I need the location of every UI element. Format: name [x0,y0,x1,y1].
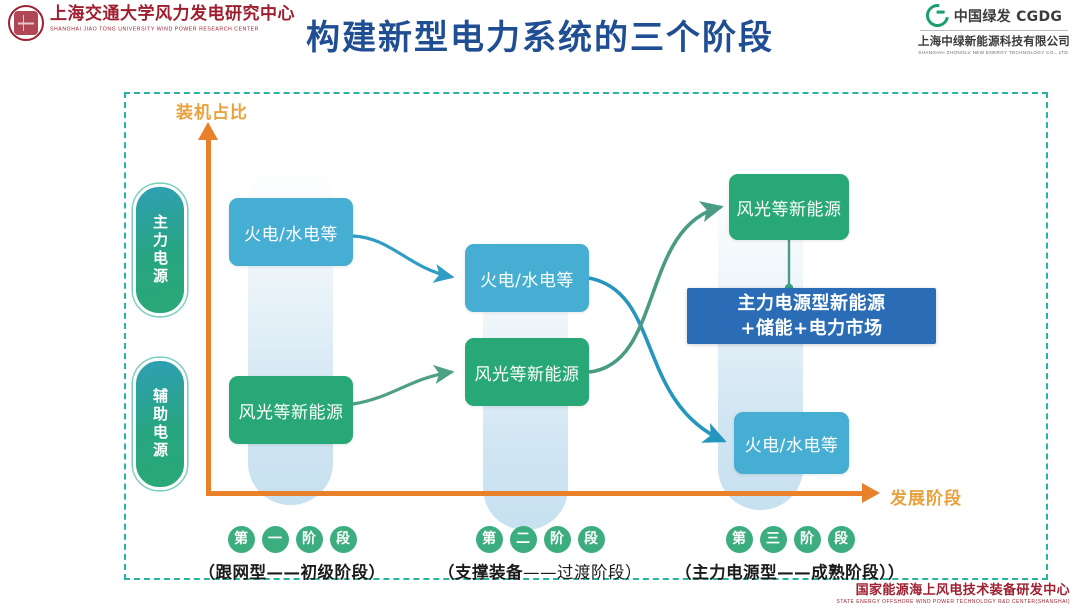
logo-right-brand: 中国绿发 CGDG [954,6,1062,26]
node-stage3-renewables[interactable]: 风光等新能源 [729,174,849,240]
stage-2-chip-1: 二 [510,526,537,553]
logo-right-cn: 上海中绿新能源科技有限公司 [918,33,1070,49]
cgdg-g-mark-icon [921,0,953,32]
stage-1-caption: 第 一 阶 段 （跟网型——初级阶段） [182,526,402,583]
node-stage2-thermal-hydro[interactable]: 火电/水电等 [465,244,589,312]
stage-1-chip-2: 阶 [296,526,323,553]
page-header: 上海交通大学风力发电研究中心 SHANGHAI JIAO TONG UNIVER… [0,0,1080,76]
core-line-1: 主力电源型新能源 [738,291,886,316]
stage-2-chip-3: 段 [578,526,605,553]
stage-3-chips: 第 三 阶 段 [655,526,925,553]
stage-1-chip-1: 一 [262,526,289,553]
x-axis-arrow-icon [862,483,880,503]
logo-cgdg: 中国绿发 CGDG 上海中绿新能源科技有限公司 SHANGHAI ZHONGLV… [918,4,1070,55]
y-axis-label: 装机占比 [176,98,248,123]
stage-3-chip-0: 第 [726,526,753,553]
stage-2-chip-0: 第 [476,526,503,553]
stage-3-caption: 第 三 阶 段 （主力电源型——成熟阶段）） [655,526,925,583]
y-axis-arrow-icon [198,122,218,140]
stage-2-chips: 第 二 阶 段 [420,526,660,553]
stage-1-subtitle: （跟网型——初级阶段） [182,559,402,583]
logo-right-en: SHANGHAI ZHONGLV NEW ENERGY TECHNOLOGY C… [918,50,1070,55]
node-stage2-renewables[interactable]: 风光等新能源 [465,338,589,406]
node-stage3-core-highlight[interactable]: 主力电源型新能源 +储能+电力市场 [687,288,936,344]
side-badge-aux-power-label: 辅助电源 [150,388,170,460]
stage-1-chips: 第 一 阶 段 [182,526,402,553]
page-footer: 国家能源海上风电技术装备研发中心 STATE ENERGY OFFSHORE W… [836,579,1070,605]
core-line-2: +储能+电力市场 [740,316,882,341]
stage-3-chip-2: 阶 [794,526,821,553]
stage-3-chip-3: 段 [828,526,855,553]
stage-2-subtitle-bold: （支撑装备 [438,563,523,582]
side-badge-main-power: 主力电源 [133,184,187,316]
side-badge-aux-power: 辅助电源 [133,358,187,490]
stage-1-chip-3: 段 [330,526,357,553]
side-badge-main-power-label: 主力电源 [150,214,170,286]
node-stage1-thermal-hydro[interactable]: 火电/水电等 [229,198,353,266]
stage-3-chip-1: 三 [760,526,787,553]
y-axis-line [206,136,211,496]
x-axis-label: 发展阶段 [890,484,962,509]
footer-cn: 国家能源海上风电技术装备研发中心 [836,579,1070,598]
node-stage3-thermal-hydro[interactable]: 火电/水电等 [734,412,849,474]
stage-2-subtitle: （支撑装备——过渡阶段） [420,559,660,583]
node-stage1-renewables[interactable]: 风光等新能源 [229,376,353,444]
logo-right-divider [920,30,1068,31]
stage-2-subtitle-rest: ——过渡阶段） [523,563,642,582]
stage-1-chip-0: 第 [228,526,255,553]
stage-2-caption: 第 二 阶 段 （支撑装备——过渡阶段） [420,526,660,583]
stage-2-chip-2: 阶 [544,526,571,553]
footer-en: STATE ENERGY OFFSHORE WIND POWER TECHNOL… [836,599,1070,605]
x-axis-line [206,491,868,496]
